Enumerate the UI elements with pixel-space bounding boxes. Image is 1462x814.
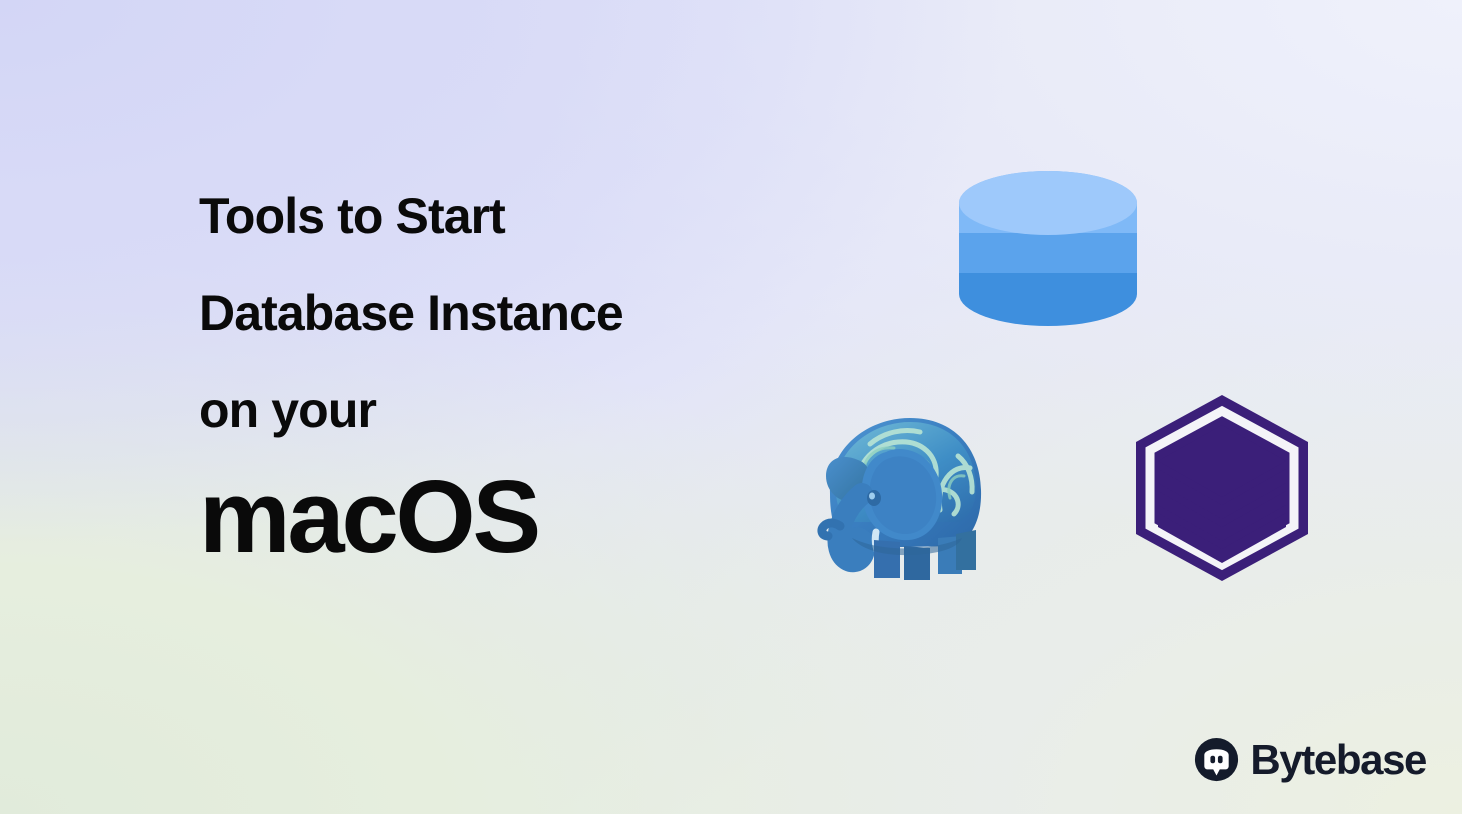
bytebase-mark-icon — [1194, 737, 1239, 782]
headline-line-3: on your — [199, 362, 899, 459]
headline-line-1: Tools to Start — [199, 168, 899, 265]
article-cover-banner: Tools to Start Database Instance on your… — [0, 0, 1462, 814]
hexagon-stacked-cube-icon — [1136, 395, 1308, 581]
headline-line-2: Database Instance — [199, 265, 899, 362]
bytebase-logo: Bytebase — [1194, 737, 1426, 782]
page-title: Tools to Start Database Instance on your… — [199, 168, 899, 571]
headline-emphasis-macos: macOS — [199, 463, 899, 571]
postgresql-elephant-icon — [800, 398, 996, 584]
bytebase-wordmark: Bytebase — [1250, 739, 1426, 781]
database-cylinder-icon — [959, 171, 1137, 326]
